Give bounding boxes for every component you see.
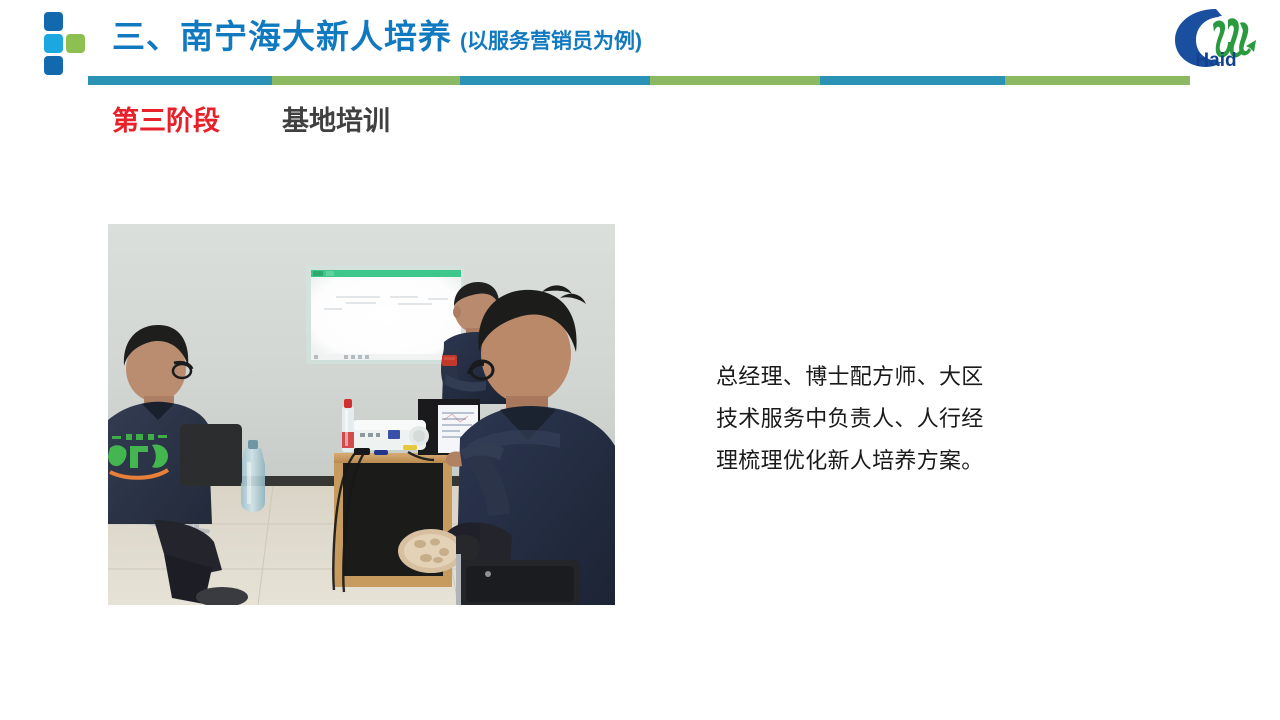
chair-right xyxy=(456,554,580,605)
caption-line-1: 总经理、博士配方师、大区 xyxy=(716,356,1026,398)
header-rule-segment-5 xyxy=(820,76,1005,85)
stage-row: 第三阶段 基地培训 xyxy=(112,108,390,135)
projector xyxy=(352,420,429,450)
square-mid-left-icon xyxy=(44,34,63,53)
header-rule-segment-3 xyxy=(460,76,650,85)
training-photo-illustration xyxy=(108,224,615,605)
slide-title-main: 三、南宁海大新人培养 xyxy=(112,20,452,53)
stage-label: 第三阶段 xyxy=(112,108,220,135)
caption-line-2: 技术服务中负责人、人行经 xyxy=(716,398,1026,440)
header-rule-segment-1 xyxy=(88,76,272,85)
slide-title: 三、南宁海大新人培养 (以服务营销员为例) xyxy=(112,20,642,53)
stage-value: 基地培训 xyxy=(282,108,390,135)
caption-line-3: 理梳理优化新人培养方案。 xyxy=(716,440,1026,482)
header-rule-segment-4 xyxy=(650,76,820,85)
square-bottom-icon xyxy=(44,56,63,75)
header-color-rule xyxy=(88,76,1190,85)
square-top-icon xyxy=(44,12,63,31)
decorative-square-cluster xyxy=(44,12,84,74)
haid-logo: Haid xyxy=(1170,6,1262,78)
haid-logo-text: Haid xyxy=(1170,50,1262,72)
square-mid-right-icon xyxy=(66,34,85,53)
cable-adapter xyxy=(354,448,370,455)
header-rule-segment-6 xyxy=(1005,76,1190,85)
water-jug xyxy=(241,440,265,512)
header-rule-segment-2 xyxy=(272,76,460,85)
water-bottle xyxy=(342,399,354,452)
training-photo xyxy=(108,224,615,605)
vga-connector xyxy=(374,450,388,455)
slide-header: 三、南宁海大新人培养 (以服务营销员为例) Haid xyxy=(0,0,1280,92)
caption-block: 总经理、博士配方师、大区 技术服务中负责人、人行经 理梳理优化新人培养方案。 xyxy=(716,356,1026,482)
slide-title-sub: (以服务营销员为例) xyxy=(460,31,642,52)
